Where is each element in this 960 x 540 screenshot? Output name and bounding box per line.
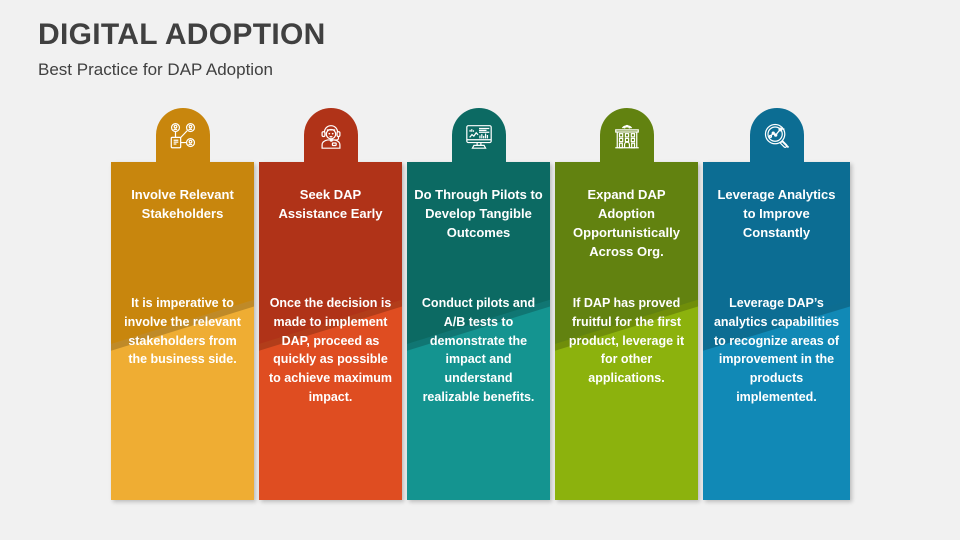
- best-practice-columns: Involve Relevant Stakeholders It is impe…: [111, 108, 850, 500]
- column-card: Leverage Analytics to Improve Constantly…: [703, 162, 850, 500]
- icon-bubble: [750, 108, 804, 170]
- column-heading: Leverage Analytics to Improve Constantly: [703, 186, 850, 243]
- column-leverage-analytics[interactable]: Leverage Analytics to Improve Constantly…: [703, 108, 850, 500]
- column-body-text: It is imperative to involve the relevant…: [111, 294, 254, 369]
- column-seek-dap-assistance-early[interactable]: Seek DAP Assistance Early Once the decis…: [259, 108, 402, 500]
- icon-bubble: [600, 108, 654, 170]
- column-heading: Do Through Pilots to Develop Tangible Ou…: [407, 186, 550, 243]
- column-involve-relevant-stakeholders[interactable]: Involve Relevant Stakeholders It is impe…: [111, 108, 254, 500]
- column-card: Involve Relevant Stakeholders It is impe…: [111, 162, 254, 500]
- icon-bubble: [452, 108, 506, 170]
- column-body-text: Once the decision is made to implement D…: [259, 294, 402, 407]
- column-heading: Seek DAP Assistance Early: [259, 186, 402, 224]
- column-heading: Expand DAP Adoption Opportunistically Ac…: [555, 186, 698, 261]
- slide-canvas: DIGITAL ADOPTION Best Practice for DAP A…: [0, 0, 960, 540]
- column-body-text: Conduct pilots and A/B tests to demonstr…: [407, 294, 550, 407]
- column-expand-dap-adoption[interactable]: Expand DAP Adoption Opportunistically Ac…: [555, 108, 698, 500]
- column-body-text: If DAP has proved fruitful for the first…: [555, 294, 698, 388]
- column-do-through-pilots[interactable]: Do Through Pilots to Develop Tangible Ou…: [407, 108, 550, 500]
- column-heading: Involve Relevant Stakeholders: [111, 186, 254, 224]
- column-card: Expand DAP Adoption Opportunistically Ac…: [555, 162, 698, 500]
- page-title: DIGITAL ADOPTION: [38, 18, 326, 52]
- column-card: Do Through Pilots to Develop Tangible Ou…: [407, 162, 550, 500]
- column-card: Seek DAP Assistance Early Once the decis…: [259, 162, 402, 500]
- column-body-text: Leverage DAP’s analytics capabilities to…: [703, 294, 850, 407]
- icon-bubble: [156, 108, 210, 170]
- icon-bubble: [304, 108, 358, 170]
- page-subtitle: Best Practice for DAP Adoption: [38, 60, 273, 80]
